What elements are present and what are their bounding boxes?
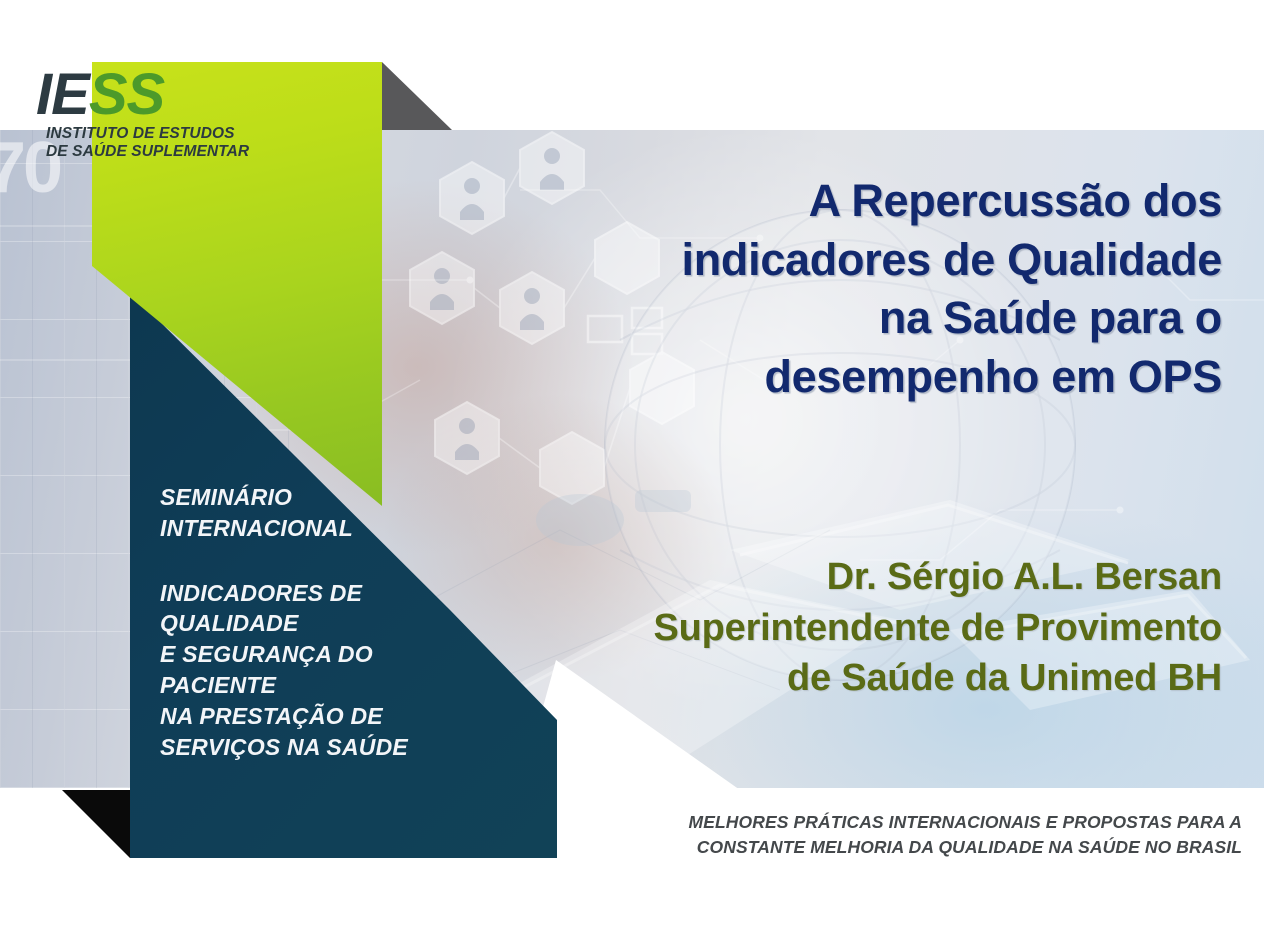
event-theme-lines: INDICADORES DE QUALIDADE E SEGURANÇA DO … <box>160 578 540 763</box>
event-tagline: MELHORES PRÁTICAS INTERNACIONAIS E PROPO… <box>622 810 1242 860</box>
iess-wordmark-part-1: IE <box>36 62 89 127</box>
iess-wordmark-part-2: SS <box>89 62 164 127</box>
iess-logo: IESS INSTITUTO DE ESTUDOS DE SAÚDE SUPLE… <box>36 68 280 161</box>
speaker-credit: Dr. Sérgio A.L. Bersan Superintendente d… <box>522 552 1222 704</box>
speaker-role-line: Superintendente de Provimento <box>522 603 1222 654</box>
title-line: desempenho em OPS <box>522 348 1222 407</box>
event-line: INDICADORES DE <box>160 578 540 609</box>
event-seminar-lines: SEMINÁRIO INTERNACIONAL <box>160 482 540 544</box>
event-line: SERVIÇOS NA SAÚDE <box>160 732 540 763</box>
event-line: NA PRESTAÇÃO DE <box>160 701 540 732</box>
event-line: PACIENTE <box>160 670 540 701</box>
grey-triangle-accent <box>382 62 452 130</box>
title-line: A Repercussão dos <box>522 172 1222 231</box>
iess-wordmark: IESS <box>36 68 280 121</box>
speaker-name: Dr. Sérgio A.L. Bersan <box>522 552 1222 603</box>
tagline-line: CONSTANTE MELHORIA DA QUALIDADE NA SAÚDE… <box>622 835 1242 860</box>
event-line: SEMINÁRIO <box>160 482 540 513</box>
title-line: indicadores de Qualidade <box>522 231 1222 290</box>
iess-subtitle-line: DE SAÚDE SUPLEMENTAR <box>46 143 280 161</box>
event-line: QUALIDADE <box>160 608 540 639</box>
speaker-role-line: de Saúde da Unimed BH <box>522 653 1222 704</box>
black-triangle-accent <box>62 790 130 858</box>
iess-subtitle-line: INSTITUTO DE ESTUDOS <box>46 125 280 143</box>
slide-title: A Repercussão dos indicadores de Qualida… <box>522 172 1222 406</box>
tagline-line: MELHORES PRÁTICAS INTERNACIONAIS E PROPO… <box>622 810 1242 835</box>
event-info-text: SEMINÁRIO INTERNACIONAL INDICADORES DE Q… <box>160 482 540 763</box>
event-line: INTERNACIONAL <box>160 513 540 544</box>
title-slide: 70 <box>0 0 1264 939</box>
iess-logo-subtitle: INSTITUTO DE ESTUDOS DE SAÚDE SUPLEMENTA… <box>46 125 280 161</box>
event-line: E SEGURANÇA DO <box>160 639 540 670</box>
title-line: na Saúde para o <box>522 289 1222 348</box>
